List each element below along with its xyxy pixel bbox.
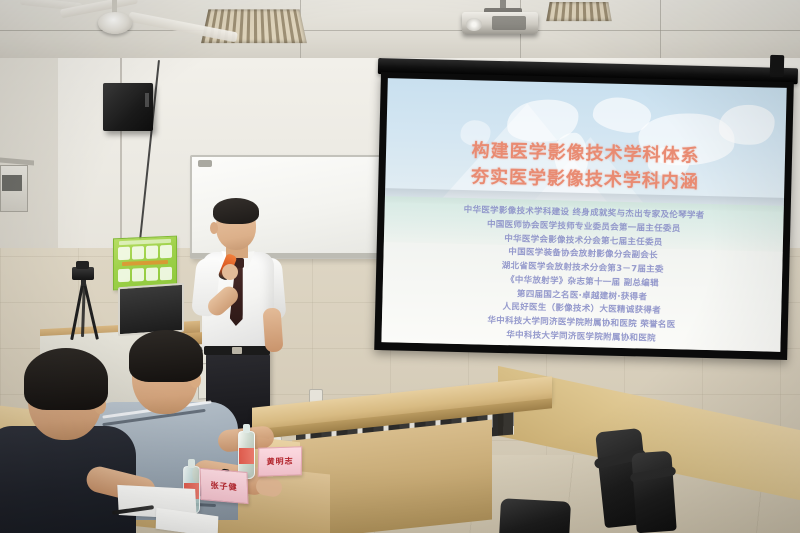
side-monitor [118,283,184,337]
poster-divider [122,260,168,266]
lecture-hall-photo: 构建医学影像技术学科体系 夯实医学影像技术学科内涵 中华医学影像技术学科建设 终… [0,0,800,533]
projector-body-detail [492,16,526,30]
whiteboard-clip [198,160,212,167]
slide-title: 构建医学影像技术学科体系 夯实医学影像技术学科内涵 [385,136,785,197]
attendee-hair [24,348,108,410]
poster-cell [146,245,158,259]
poster-cell [160,267,172,281]
projector-lens-icon [466,18,482,31]
presenter-hand [222,264,238,280]
poster-cell [118,247,130,261]
presenter-right-arm [262,307,283,352]
screen-housing-end-cap [770,55,785,77]
slide-surface: 构建医学影像技术学科体系 夯实医学影像技术学科内涵 中华医学影像技术学科建设 终… [381,78,786,352]
poster-row [118,267,172,282]
slide-bullet-list: 中华医学影像技术学科建设 终身成就奖与杰出专家及伦琴学者 中国医师协会医学技师专… [381,202,783,352]
name-placard: 黄明志 [258,446,302,477]
wall-speaker-icon [103,83,153,131]
camera-icon [76,261,89,269]
presenter-ear [210,222,218,234]
poster-cell [118,269,130,283]
poster-cell [146,267,158,281]
bottle-label [239,448,254,464]
presenter-hair [213,198,259,224]
poster-cell [132,246,144,260]
poster-row [118,245,172,260]
projection-screen: 构建医学影像技术学科体系 夯实医学影像技术学科内涵 中华医学影像技术学科建设 终… [374,72,794,360]
poster-cell [132,268,144,282]
ceiling-fan-icon [98,12,132,34]
poster-cell [160,245,172,259]
control-panel-screen [2,175,22,191]
hygiene-poster [113,236,177,291]
ceiling-vent-icon [546,2,612,21]
name-placard: 张子健 [199,468,248,504]
world-map-shape [718,103,776,146]
